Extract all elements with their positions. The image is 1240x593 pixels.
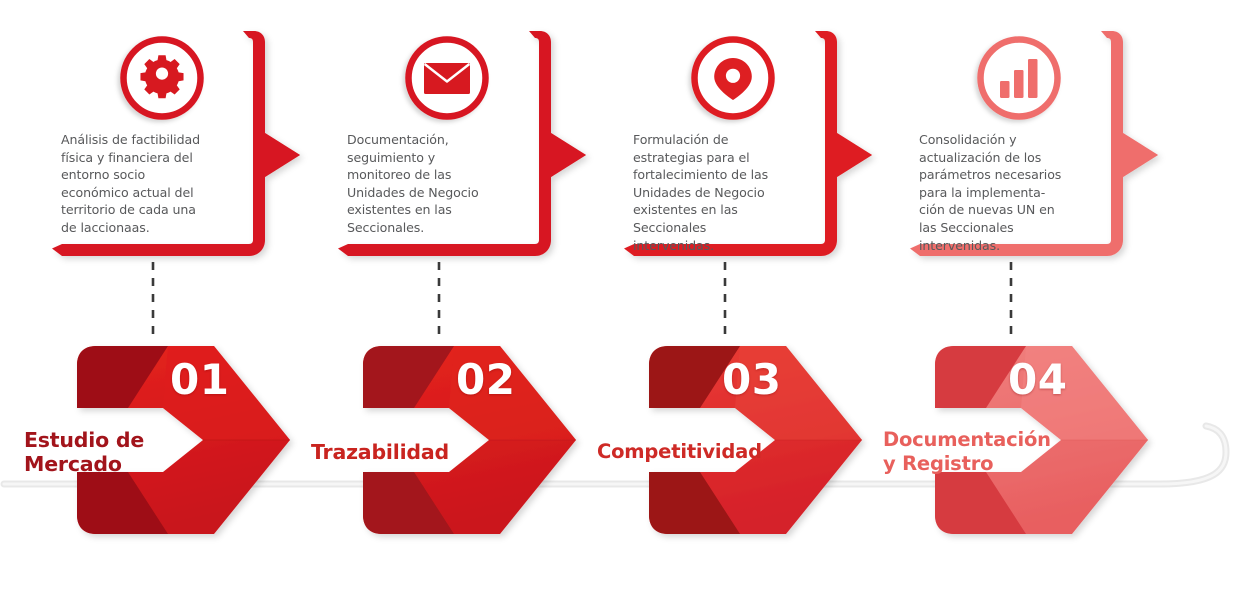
- envelope-icon: [424, 63, 470, 94]
- gear-icon: [140, 55, 183, 98]
- infographic-graphics: [0, 0, 1240, 593]
- step-number-3: 03: [722, 355, 781, 404]
- infographic-canvas: Análisis de factibilidad física y financ…: [0, 0, 1240, 593]
- card-description-4: Consolidación y actualización de los par…: [919, 131, 1121, 254]
- step-number-4: 04: [1008, 355, 1067, 404]
- card-description-3: Formulación de estrategias para el forta…: [633, 131, 833, 254]
- step-number-2: 02: [456, 355, 515, 404]
- card-description-1: Análisis de factibilidad física y financ…: [61, 131, 251, 237]
- step-label-1: Estudio de Mercado: [24, 428, 144, 476]
- step-label-3: Competitividad: [597, 440, 762, 464]
- step-label-2: Trazabilidad: [311, 440, 449, 464]
- card-description-2: Documentación, seguimiento y monitoreo d…: [347, 131, 537, 237]
- step-number-1: 01: [170, 355, 229, 404]
- step-label-4: Documentación y Registro: [883, 428, 1051, 476]
